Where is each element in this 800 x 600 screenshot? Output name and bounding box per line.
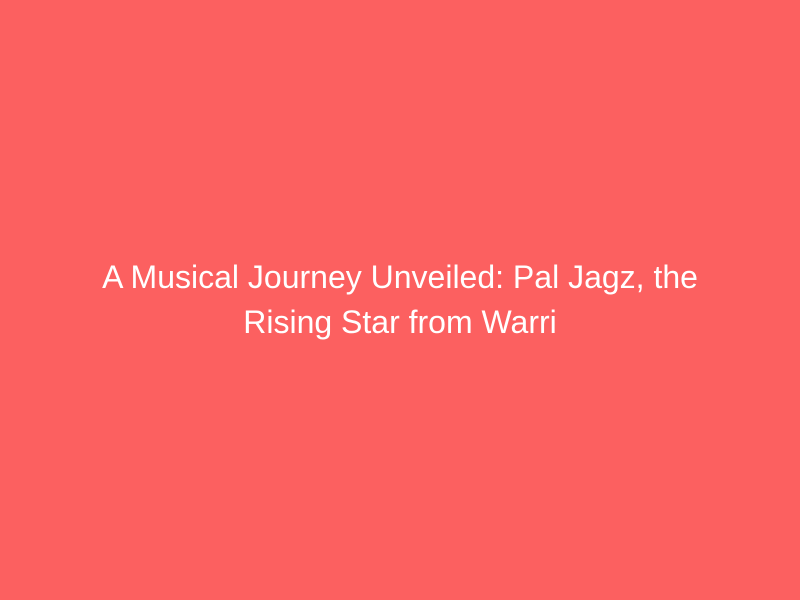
title-block: A Musical Journey Unveiled: Pal Jagz, th… bbox=[80, 255, 720, 345]
title-card: A Musical Journey Unveiled: Pal Jagz, th… bbox=[0, 0, 800, 600]
page-title: A Musical Journey Unveiled: Pal Jagz, th… bbox=[88, 255, 712, 345]
